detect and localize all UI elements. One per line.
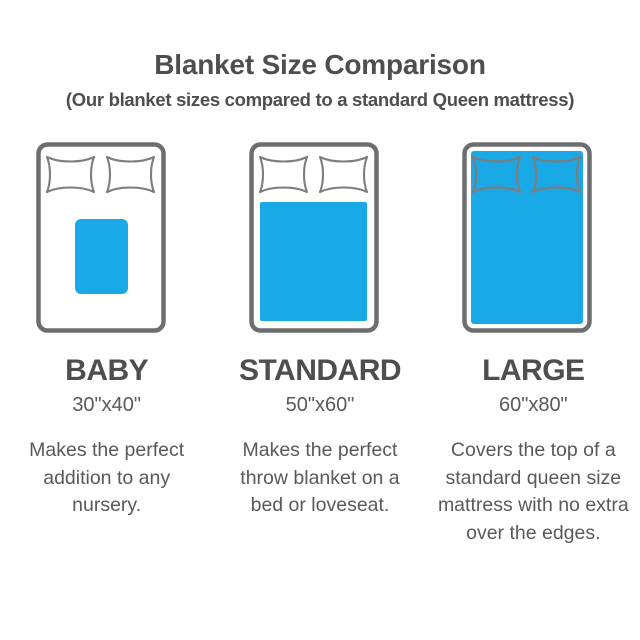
size-column-standard: STANDARD 50"x60" Makes the perfect throw… xyxy=(213,140,426,520)
comparison-columns: BABY 30"x40" Makes the perfect addition … xyxy=(0,140,640,548)
standard-bed-svg xyxy=(247,140,393,345)
pillow-left xyxy=(260,157,307,192)
large-bed-svg xyxy=(460,140,606,345)
size-name-standard: STANDARD xyxy=(239,356,401,386)
size-column-baby: BABY 30"x40" Makes the perfect addition … xyxy=(0,140,213,520)
size-description-baby: Makes the perfect addition to any nurser… xyxy=(9,437,205,520)
size-description-large: Covers the top of a standard queen size … xyxy=(435,437,631,548)
page-title: Blanket Size Comparison xyxy=(0,50,640,81)
pillow-left xyxy=(47,157,94,192)
page-subtitle: (Our blanket sizes compared to a standar… xyxy=(0,89,640,111)
bed-illustration-baby xyxy=(0,140,213,345)
bed-illustration-standard xyxy=(213,140,426,345)
pillow-right xyxy=(107,157,154,192)
size-name-large: LARGE xyxy=(482,356,585,386)
size-dimensions-large: 60"x80" xyxy=(499,395,568,415)
infographic-page: Blanket Size Comparison (Our blanket siz… xyxy=(0,0,640,640)
blanket-standard xyxy=(260,202,367,321)
baby-bed-svg xyxy=(34,140,180,345)
size-column-large: LARGE 60"x80" Covers the top of a standa… xyxy=(427,140,640,548)
size-dimensions-standard: 50"x60" xyxy=(286,395,355,415)
pillow-right xyxy=(320,157,367,192)
size-dimensions-baby: 30"x40" xyxy=(72,395,141,415)
bed-illustration-large xyxy=(427,140,640,345)
blanket-baby xyxy=(75,219,128,294)
size-description-standard: Makes the perfect throw blanket on a bed… xyxy=(222,437,418,520)
header: Blanket Size Comparison (Our blanket siz… xyxy=(0,50,640,111)
size-name-baby: BABY xyxy=(65,356,148,386)
blanket-large xyxy=(471,151,583,324)
